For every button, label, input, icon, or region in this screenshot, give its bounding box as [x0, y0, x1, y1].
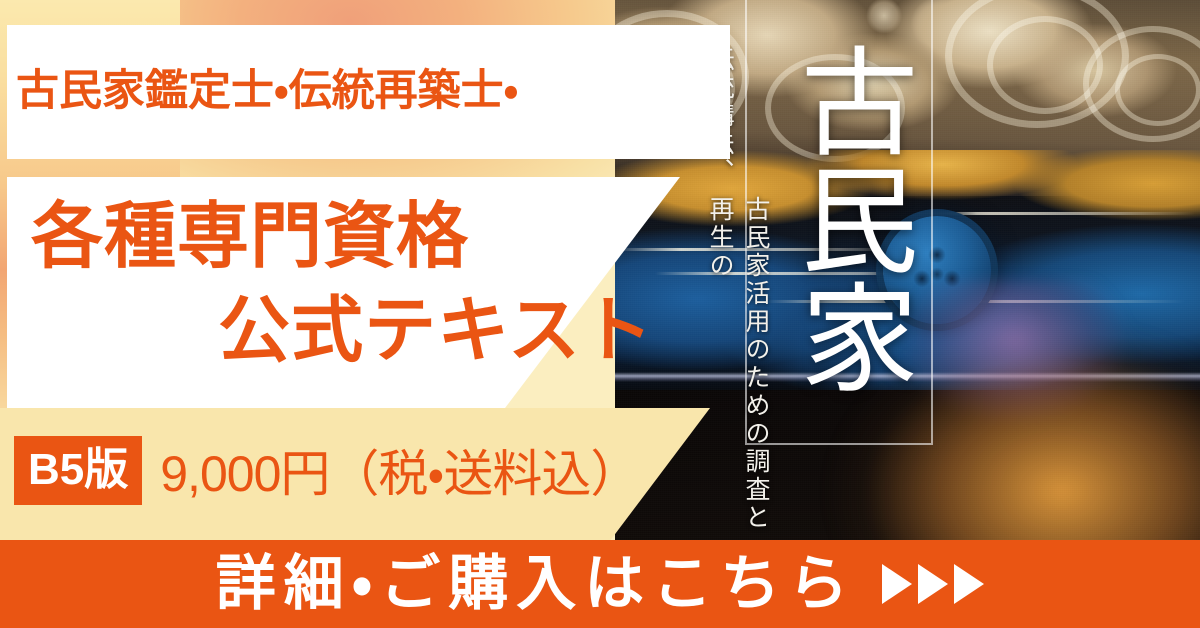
promo-banner: 古民家 伝統構法、 古民家活用のための調査と再生の 古民家鑑定士・伝統再築士・ …	[0, 0, 1200, 628]
cover-subtitle-line-2: 古民家活用のための調査と再生の	[701, 196, 773, 540]
chevron-right-icon	[918, 564, 948, 604]
cta-bar[interactable]: 詳細・ご購入はこちら	[0, 540, 1200, 628]
cta-label: 詳細・ご購入はこちら	[216, 554, 856, 614]
cover-title: 古民家	[763, 8, 913, 428]
chevron-right-icon	[954, 564, 984, 604]
heading-line-1: 各種専門資格	[7, 191, 662, 285]
size-badge: B5版	[14, 436, 142, 505]
price-row: B5版 9,000円（税・送料込）	[0, 420, 639, 520]
chevron-right-icon	[882, 564, 912, 604]
qualifications-line-1: 古民家鑑定士・伝統再築士・	[16, 67, 518, 115]
cta-arrows	[882, 564, 984, 604]
heading-line-2: 公式テキスト	[7, 285, 662, 379]
price-text: 9,000円（税・送料込）	[160, 434, 639, 506]
main-heading: 各種専門資格 公式テキスト	[7, 191, 662, 378]
